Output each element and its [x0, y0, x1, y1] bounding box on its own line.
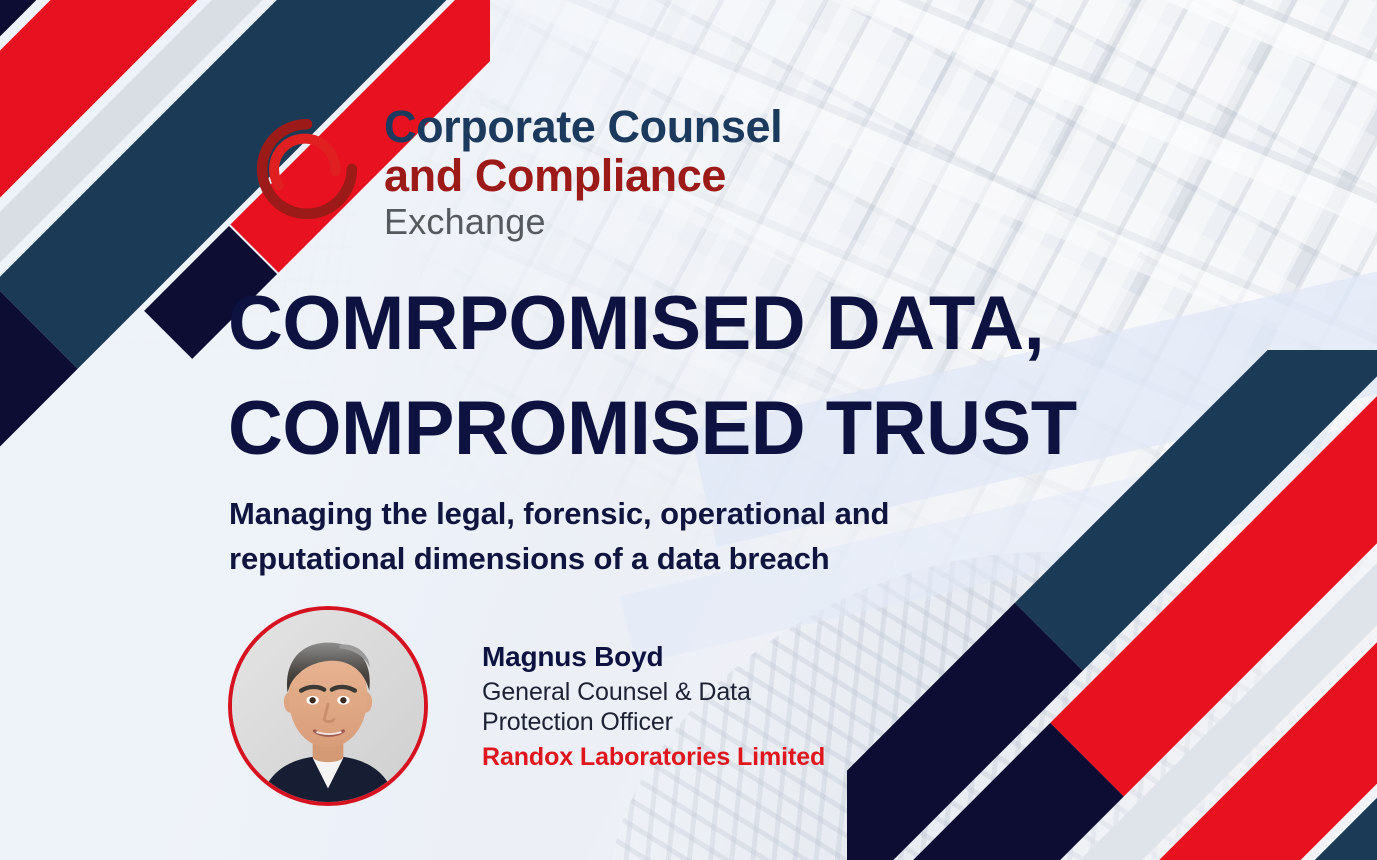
- slide-title: COMRPOMISED DATA, COMPROMISED TRUST: [228, 272, 1218, 482]
- speaker-organization: Randox Laboratories Limited: [482, 743, 825, 773]
- speaker-name: Magnus Boyd: [482, 640, 825, 673]
- slide-subtitle: Managing the legal, forensic, operationa…: [229, 492, 1059, 581]
- slide-title-line-2: COMPROMISED TRUST: [228, 377, 1218, 482]
- broken-ring-icon: [248, 110, 366, 228]
- slide-title-line-1: COMRPOMISED DATA,: [228, 281, 1044, 366]
- speaker-block: Magnus Boyd General Counsel & Data Prote…: [228, 606, 825, 806]
- presentation-slide: Corporate Counsel and Compliance Exchang…: [0, 0, 1377, 860]
- logo-line-2: and Compliance: [384, 153, 782, 198]
- speaker-portrait-image: [232, 610, 424, 802]
- logo-line-1: Corporate Counsel: [384, 104, 782, 149]
- speaker-role-line-1: General Counsel & Data: [482, 678, 825, 708]
- logo-line-3: Exchange: [384, 204, 782, 240]
- slide-subtitle-line-2: reputational dimensions of a data breach: [229, 541, 830, 576]
- speaker-portrait: [228, 606, 428, 806]
- slide-subtitle-line-1: Managing the legal, forensic, operationa…: [229, 496, 889, 531]
- event-logo: Corporate Counsel and Compliance Exchang…: [248, 104, 782, 240]
- speaker-role-line-2: Protection Officer: [482, 708, 825, 738]
